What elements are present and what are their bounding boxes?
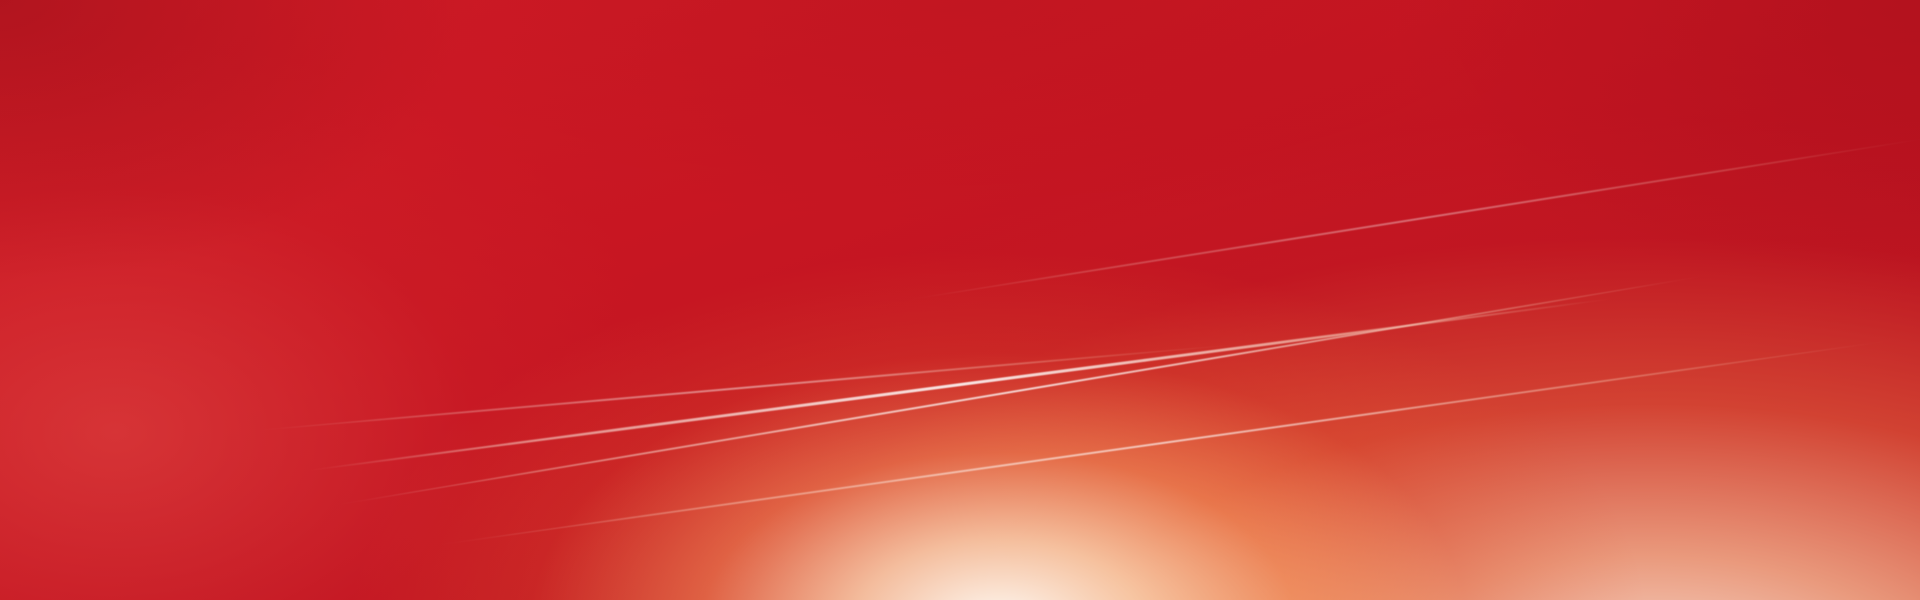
light-streak [430, 339, 1896, 547]
light-streak [250, 343, 1246, 432]
light-streak [900, 136, 1920, 302]
light-streak [330, 274, 1711, 507]
orange-light-streaks [0, 0, 1920, 600]
promo-banner: 为您提供 中小企业一站式创业服务平台 全方位服务支持，助企业快速成长 公司注册 … [0, 0, 1920, 600]
